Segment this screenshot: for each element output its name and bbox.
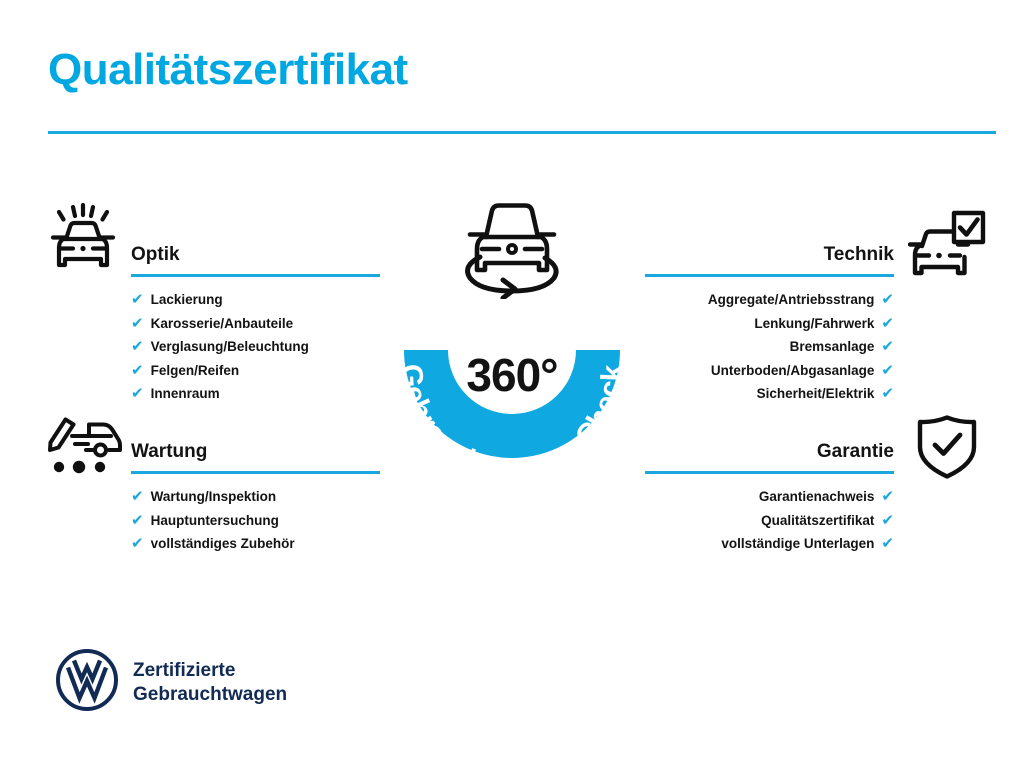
check-icon: ✔	[881, 536, 894, 551]
footer-line-1: Zertifizierte	[133, 659, 287, 683]
checklist-item: ✔Hauptuntersuchung	[131, 509, 380, 533]
checklist-item: ✔Lackierung	[131, 288, 380, 312]
section-optik-title: Optik	[131, 243, 380, 267]
checklist-item-label: Verglasung/Beleuchtung	[151, 335, 309, 359]
check-icon: ✔	[881, 386, 894, 401]
car-rotation-360-icon	[456, 194, 568, 299]
check-icon: ✔	[881, 339, 894, 354]
checklist-item-label: Unterboden/Abgasanlage	[711, 359, 875, 383]
checklist-item-label: Sicherheit/Elektrik	[757, 382, 875, 406]
checklist-item: Unterboden/Abgasanlage✔	[645, 359, 894, 383]
checklist-item: vollständige Unterlagen✔	[645, 532, 894, 556]
checklist-item-label: Karosserie/Anbauteile	[151, 312, 294, 336]
checklist-item-label: Qualitätszertifikat	[761, 509, 874, 533]
checklist-item-label: Wartung/Inspektion	[151, 485, 277, 509]
badge-center-label: 360°	[374, 352, 650, 398]
checklist-item: ✔Verglasung/Beleuchtung	[131, 335, 380, 359]
checklist-item-label: Aggregate/Antriebsstrang	[708, 288, 875, 312]
section-garantie-title: Garantie	[645, 440, 894, 464]
check-icon: ✔	[881, 292, 894, 307]
volkswagen-roundel-icon	[55, 648, 119, 712]
section-wartung-list: ✔Wartung/Inspektion✔Hauptuntersuchung✔vo…	[131, 485, 380, 556]
checklist-item-label: Innenraum	[151, 382, 220, 406]
section-optik-list: ✔Lackierung✔Karosserie/Anbauteile✔Vergla…	[131, 288, 380, 406]
section-optik: Optik ✔Lackierung✔Karosserie/Anbauteile✔…	[131, 243, 380, 406]
checklist-item: ✔vollständiges Zubehör	[131, 532, 380, 556]
section-optik-header: Optik	[131, 243, 380, 277]
checklist-item-label: Bremsanlage	[790, 335, 875, 359]
check-icon: ✔	[881, 513, 894, 528]
section-optik-divider	[131, 274, 380, 277]
car-checkbox-icon	[908, 210, 986, 282]
checklist-item-label: vollständiges Zubehör	[151, 532, 295, 556]
section-garantie-divider	[645, 471, 894, 474]
car-pencil-service-icon	[45, 414, 125, 476]
checklist-item: Sicherheit/Elektrik✔	[645, 382, 894, 406]
title-divider	[48, 131, 996, 134]
checklist-item: ✔Karosserie/Anbauteile	[131, 312, 380, 336]
section-wartung-title: Wartung	[131, 440, 380, 464]
check-icon: ✔	[881, 363, 894, 378]
check-icon: ✔	[131, 386, 144, 401]
check-icon: ✔	[131, 292, 144, 307]
checklist-item: Qualitätszertifikat✔	[645, 509, 894, 533]
checklist-item: ✔Felgen/Reifen	[131, 359, 380, 383]
check-icon: ✔	[131, 513, 144, 528]
section-garantie-list: Garantienachweis✔Qualitätszertifikat✔vol…	[645, 485, 894, 556]
checklist-item: Lenkung/Fahrwerk✔	[645, 312, 894, 336]
section-technik-header: Technik	[645, 243, 894, 277]
check-icon: ✔	[131, 489, 144, 504]
section-technik: Technik Aggregate/Antriebsstrang✔Lenkung…	[645, 243, 894, 406]
section-technik-list: Aggregate/Antriebsstrang✔Lenkung/Fahrwer…	[645, 288, 894, 406]
section-wartung-divider	[131, 471, 380, 474]
check-icon: ✔	[131, 316, 144, 331]
checklist-item: Bremsanlage✔	[645, 335, 894, 359]
section-technik-divider	[645, 274, 894, 277]
checklist-item: ✔Innenraum	[131, 382, 380, 406]
checklist-item: ✔Wartung/Inspektion	[131, 485, 380, 509]
check-icon: ✔	[881, 489, 894, 504]
checklist-item-label: Lenkung/Fahrwerk	[754, 312, 874, 336]
page-title: Qualitätszertifikat	[48, 48, 408, 92]
footer-line-2: Gebrauchtwagen	[133, 683, 287, 707]
section-wartung: Wartung ✔Wartung/Inspektion✔Hauptuntersu…	[131, 440, 380, 556]
section-garantie-header: Garantie	[645, 440, 894, 474]
checklist-item-label: Felgen/Reifen	[151, 359, 240, 383]
car-shine-icon	[45, 203, 121, 279]
check-icon: ✔	[131, 339, 144, 354]
section-technik-title: Technik	[645, 243, 894, 267]
check-icon: ✔	[881, 316, 894, 331]
checklist-item: Aggregate/Antriebsstrang✔	[645, 288, 894, 312]
check-icon: ✔	[131, 536, 144, 551]
section-wartung-header: Wartung	[131, 440, 380, 474]
footer-brand-text: Zertifizierte Gebrauchtwagen	[133, 659, 287, 707]
checklist-item-label: Lackierung	[151, 288, 223, 312]
checklist-item: Garantienachweis✔	[645, 485, 894, 509]
gebrauchtwagen-check-badge: Gebrauchtwagen-Check 360°	[374, 194, 650, 484]
checklist-item-label: Garantienachweis	[759, 485, 875, 509]
shield-check-icon	[916, 414, 978, 480]
checklist-item-label: Hauptuntersuchung	[151, 509, 279, 533]
checklist-item-label: vollständige Unterlagen	[721, 532, 874, 556]
section-garantie: Garantie Garantienachweis✔Qualitätszerti…	[645, 440, 894, 556]
check-icon: ✔	[131, 363, 144, 378]
